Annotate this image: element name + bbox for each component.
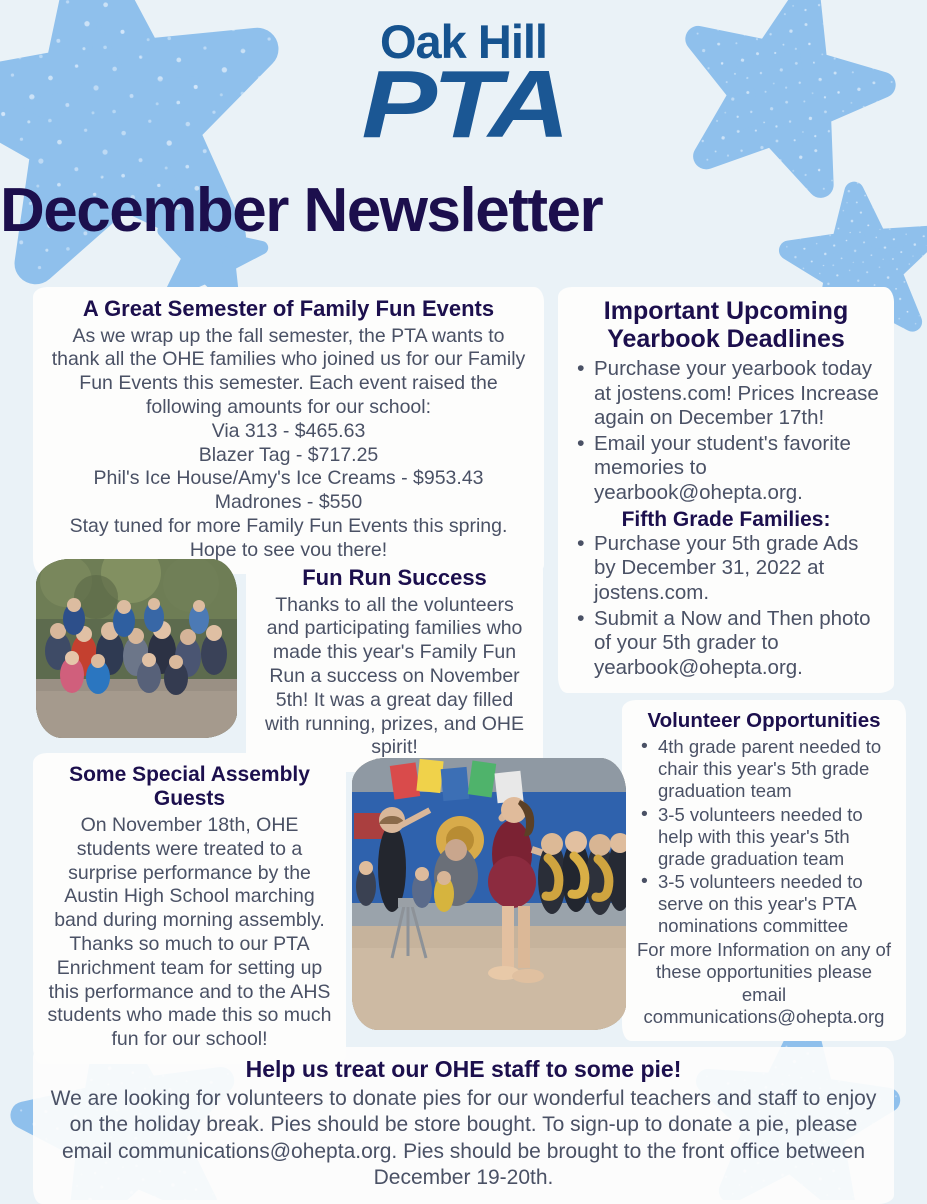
assembly-band-photo: [352, 758, 626, 1030]
yearbook-bullet-list: Purchase your yearbook today at jostens.…: [572, 357, 880, 506]
family-fun-title: A Great Semester of Family Fun Events: [47, 297, 530, 322]
yearbook-bullet-list-2: Purchase your 5th grade Ads by December …: [572, 532, 880, 681]
family-fun-amount: Blazer Tag - $717.25: [47, 444, 530, 468]
fun-run-body: Thanks to all the volunteers and partici…: [260, 594, 529, 760]
assembly-body: On November 18th, OHE students were trea…: [47, 814, 332, 1052]
list-item: Purchase your 5th grade Ads by December …: [572, 532, 880, 606]
family-fun-amount: Via 313 - $465.63: [47, 420, 530, 444]
fun-run-title: Fun Run Success: [260, 566, 529, 591]
card-volunteer-opportunities: Volunteer Opportunities 4th grade parent…: [622, 700, 906, 1041]
pta-logo: Oak Hill PTA: [377, 18, 550, 153]
list-item: 4th grade parent needed to chair this ye…: [636, 736, 892, 803]
card-yearbook-deadlines: Important Upcoming Yearbook Deadlines Pu…: [558, 287, 894, 693]
volunteer-title: Volunteer Opportunities: [636, 710, 892, 733]
assembly-title: Some Special Assembly Guests: [47, 763, 332, 810]
card-special-assembly-guests: Some Special Assembly Guests On November…: [33, 753, 346, 1064]
pie-title: Help us treat our OHE staff to some pie!: [47, 1057, 880, 1083]
yearbook-title: Important Upcoming Yearbook Deadlines: [572, 297, 880, 353]
yearbook-subhead: Fifth Grade Families:: [572, 507, 880, 532]
fun-run-photo: [36, 559, 237, 738]
list-item: 3-5 volunteers needed to serve on this y…: [636, 871, 892, 938]
volunteer-bullet-list: 4th grade parent needed to chair this ye…: [636, 736, 892, 938]
family-fun-amount: Phil's Ice House/Amy's Ice Creams - $953…: [47, 467, 530, 491]
newsletter-header: Oak Hill PTA: [0, 0, 927, 153]
list-item: Purchase your yearbook today at jostens.…: [572, 357, 880, 431]
card-family-fun-events: A Great Semester of Family Fun Events As…: [33, 287, 544, 574]
page-title: December Newsletter: [0, 175, 927, 246]
family-fun-intro: As we wrap up the fall semester, the PTA…: [47, 325, 530, 420]
list-item: 3-5 volunteers needed to help with this …: [636, 804, 892, 871]
list-item: Submit a Now and Then photo of your 5th …: [572, 607, 880, 681]
card-pie-drive: Help us treat our OHE staff to some pie!…: [33, 1047, 894, 1204]
logo-pta-text: PTA: [362, 57, 566, 153]
family-fun-amount: Madrones - $550: [47, 491, 530, 515]
pie-body: We are looking for volunteers to donate …: [47, 1086, 880, 1192]
volunteer-footer: For more Information on any of these opp…: [636, 939, 892, 1029]
list-item: Email your student's favorite memories t…: [572, 432, 880, 506]
card-fun-run-success: Fun Run Success Thanks to all the volunt…: [246, 556, 543, 772]
